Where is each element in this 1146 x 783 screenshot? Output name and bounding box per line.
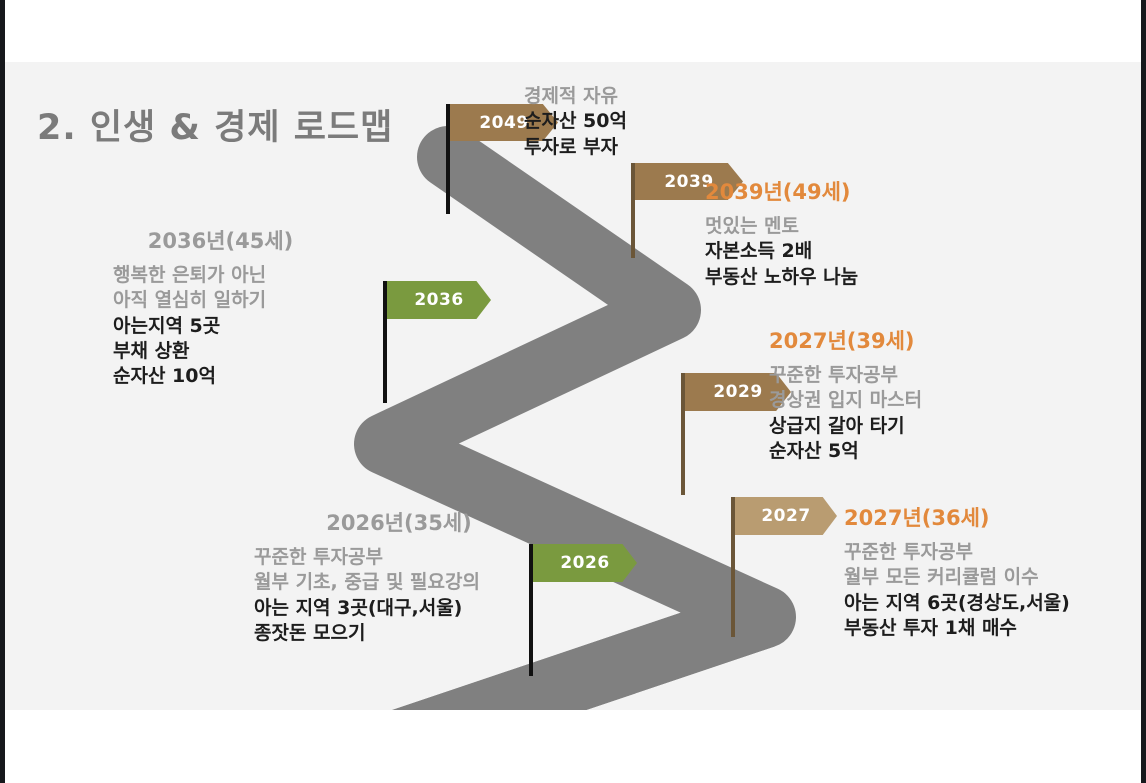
flag-banner: 2036 [387,281,491,319]
flag-pole [631,163,635,258]
note-2029: 2027년(39세) 꾸준한 투자공부 경상권 입지 마스터 상급지 갈아 타기… [769,325,922,464]
note-line: 상급지 갈아 타기 [769,414,922,439]
note-line: 경제적 자유 [524,84,627,109]
flag-2026[interactable]: 2026 [529,544,649,676]
flag-banner: 2027 [735,497,837,535]
flag-pole [383,281,387,403]
note-line: 순자산 50억 [524,109,627,134]
note-heading: 2039년(49세) [705,176,858,206]
note-2026: 2026년(35세) 꾸준한 투자공부 월부 기초, 중급 및 필요강의 아는 … [254,507,544,646]
note-heading: 2026년(35세) [254,507,544,537]
screenshot-root: 2. 인생 & 경제 로드맵 2049 2039 2036 [0,0,1146,783]
note-line: 꾸준한 투자공부 [254,545,544,570]
note-2049: 경제적 자유 순자산 50억 투자로 부자 [524,84,627,160]
note-2039: 2039년(49세) 멋있는 멘토 자본소득 2배 부동산 노하우 나눔 [705,176,858,290]
flag-label: 2026 [560,553,609,573]
note-line: 꾸준한 투자공부 [769,363,922,388]
letterbox-right-edge [1141,0,1146,783]
flag-2036[interactable]: 2036 [383,281,503,403]
note-line: 투자로 부자 [524,135,627,160]
flag-pole [446,104,450,214]
note-line: 아직 열심히 일하기 [113,288,328,313]
flag-pole [681,373,685,495]
slide-canvas: 2. 인생 & 경제 로드맵 2049 2039 2036 [5,62,1141,710]
note-line: 아는지역 5곳 [113,314,328,339]
note-line: 부동산 투자 1채 매수 [844,616,1070,641]
letterbox-left-edge [0,0,5,783]
note-line: 아는 지역 6곳(경상도,서울) [844,591,1070,616]
note-heading: 2027년(39세) [769,325,922,355]
flag-2027[interactable]: 2027 [731,497,851,637]
note-line: 월부 모든 커리큘럼 이수 [844,565,1070,590]
note-line: 아는 지역 3곳(대구,서울) [254,596,544,621]
note-line: 월부 기초, 중급 및 필요강의 [254,570,544,595]
note-line: 순자산 10억 [113,364,328,389]
flag-label: 2049 [479,113,528,133]
flag-label: 2027 [761,506,810,526]
note-line: 부동산 노하우 나눔 [705,265,858,290]
note-heading: 2027년(36세) [844,502,1070,532]
flag-label: 2036 [414,290,463,310]
note-line: 행복한 은퇴가 아닌 [113,263,328,288]
flag-pole [731,497,735,637]
note-heading: 2036년(45세) [113,225,328,255]
note-2036: 2036년(45세) 행복한 은퇴가 아닌 아직 열심히 일하기 아는지역 5곳… [113,225,328,389]
note-line: 종잣돈 모으기 [254,621,544,646]
note-line: 꾸준한 투자공부 [844,540,1070,565]
note-line: 부채 상환 [113,339,328,364]
note-line: 자본소득 2배 [705,239,858,264]
note-line: 순자산 5억 [769,439,922,464]
note-2027: 2027년(36세) 꾸준한 투자공부 월부 모든 커리큘럼 이수 아는 지역 … [844,502,1070,641]
flag-banner: 2026 [533,544,637,582]
note-line: 멋있는 멘토 [705,214,858,239]
flag-label: 2029 [713,382,762,402]
note-line: 경상권 입지 마스터 [769,388,922,413]
